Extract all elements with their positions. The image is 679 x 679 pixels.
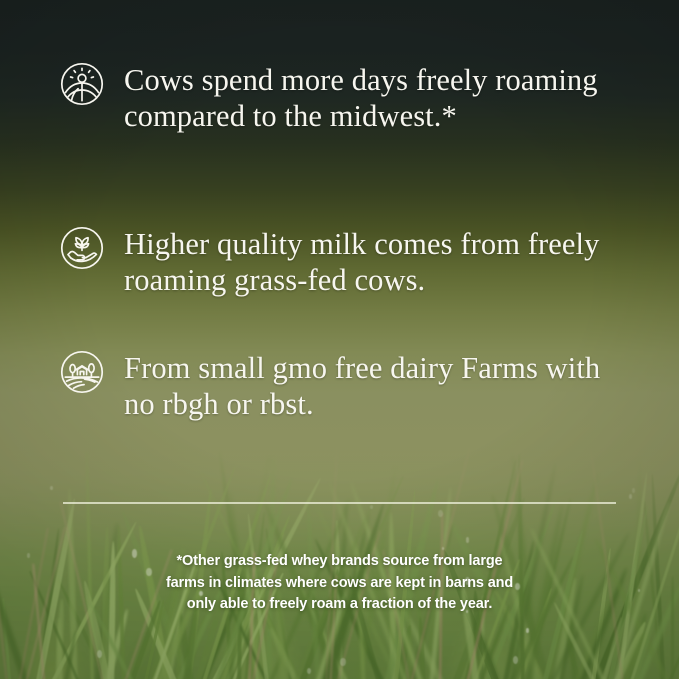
benefit-text-2: Higher quality milk comes from freely ro… xyxy=(124,226,640,298)
footnote: *Other grass-fed whey brands source from… xyxy=(0,551,679,616)
footnote-line-3: only able to freely roam a fraction of t… xyxy=(0,594,679,616)
benefit-item-3: From small gmo free dairy Farms with no … xyxy=(60,350,630,422)
footnote-line-1: *Other grass-fed whey brands source from… xyxy=(0,551,679,573)
benefit-text-3: From small gmo free dairy Farms with no … xyxy=(124,350,624,422)
benefit-item-1: Cows spend more days freely roaming comp… xyxy=(60,62,630,134)
hand-holding-sprout-icon xyxy=(60,226,104,270)
benefit-item-2: Higher quality milk comes from freely ro… xyxy=(60,226,640,298)
benefits-infographic: Cows spend more days freely roaming comp… xyxy=(0,0,679,679)
farm-barn-field-icon xyxy=(60,350,104,394)
benefit-text-1: Cows spend more days freely roaming comp… xyxy=(124,62,624,134)
section-divider xyxy=(63,502,616,504)
footnote-line-2: farms in climates where cows are kept in… xyxy=(0,573,679,595)
sun-over-field-icon xyxy=(60,62,104,106)
